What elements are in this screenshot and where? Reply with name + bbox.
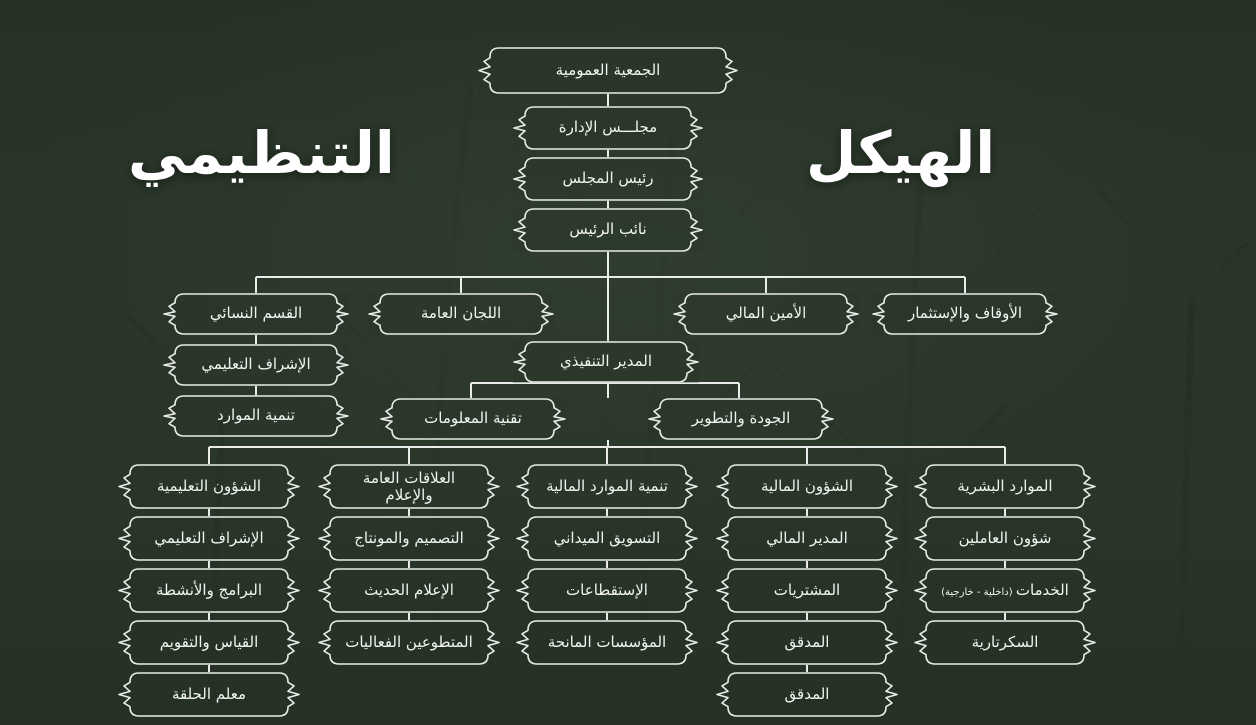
org-node-label: تنمية الموارد المالية: [546, 478, 668, 495]
org-node-label: المؤسسات المانحة: [548, 634, 666, 651]
org-node-label: الشؤون المالية: [761, 478, 853, 495]
org-node-c3r4[interactable]: المؤسسات المانحة: [516, 620, 698, 665]
org-node-c1r2[interactable]: الإشراف التعليمي: [118, 516, 300, 561]
org-node-c5r1[interactable]: الموارد البشرية: [914, 464, 1096, 509]
org-node-label: التسويق الميداني: [554, 530, 661, 547]
org-node-c2r2[interactable]: التصميم والمونتاج: [318, 516, 500, 561]
org-node-label: السكرتارية: [972, 634, 1039, 651]
org-node-n4[interactable]: نائب الرئيس: [513, 208, 703, 252]
org-node-c1r5[interactable]: معلم الحلقة: [118, 672, 300, 717]
org-node-n1[interactable]: الجمعية العمومية: [478, 47, 738, 94]
org-node-c1r3[interactable]: البرامج والأنشطة: [118, 568, 300, 613]
org-node-label: معلم الحلقة: [172, 686, 246, 703]
org-node-c5r4[interactable]: السكرتارية: [914, 620, 1096, 665]
org-node-c4r1[interactable]: الشؤون المالية: [716, 464, 898, 509]
org-node-n6[interactable]: اللجان العامة: [368, 293, 554, 335]
org-node-label: القسم النسائي: [210, 305, 302, 322]
org-node-c3r3[interactable]: الإستقطاعات: [516, 568, 698, 613]
org-node-label: القياس والتقويم: [160, 634, 259, 651]
org-node-label: العلاقات العامة والإعلام: [340, 470, 478, 503]
org-node-label: مجلـــس الإدارة: [559, 119, 657, 136]
org-node-c2r3[interactable]: الإعلام الحديث: [318, 568, 500, 613]
org-node-n7[interactable]: الأمين المالي: [673, 293, 859, 335]
org-node-label: الإستقطاعات: [566, 582, 648, 599]
org-node-c2r4[interactable]: المتطوعين الفعاليات: [318, 620, 500, 665]
org-node-label: المشتريات: [774, 582, 840, 599]
org-node-sublabel: (داخلية - خارجية): [941, 587, 1016, 598]
org-node-c5r2[interactable]: شؤون العاملين: [914, 516, 1096, 561]
org-node-c4r2[interactable]: المدير المالي: [716, 516, 898, 561]
org-node-label: شؤون العاملين: [959, 530, 1052, 547]
org-node-label: تنمية الموارد: [217, 407, 295, 424]
org-node-label: اللجان العامة: [421, 305, 501, 322]
org-node-c4r4[interactable]: المدقق: [716, 620, 898, 665]
org-node-label: الموارد البشرية: [957, 478, 1052, 495]
org-node-n8[interactable]: الأوقاف والإستثمار: [872, 293, 1058, 335]
org-node-c5r3[interactable]: الخدمات (داخلية - خارجية): [914, 568, 1096, 613]
page-title-right: الهيكل: [806, 124, 995, 182]
org-node-label: الخدمات (داخلية - خارجية): [941, 582, 1069, 599]
org-node-label: الإعلام الحديث: [364, 582, 454, 599]
org-node-c1r4[interactable]: القياس والتقويم: [118, 620, 300, 665]
org-node-n13[interactable]: الجودة والتطوير: [648, 398, 834, 440]
org-node-label: المدير المالي: [766, 530, 848, 547]
org-node-label: تقنية المعلومات: [424, 410, 522, 427]
org-node-label: الأمين المالي: [726, 305, 807, 322]
org-node-c1r1[interactable]: الشؤون التعليمية: [118, 464, 300, 509]
org-node-label: الشؤون التعليمية: [157, 478, 261, 495]
org-node-label: التصميم والمونتاج: [354, 530, 464, 547]
org-node-label: الأوقاف والإستثمار: [908, 305, 1022, 322]
org-node-c4r5[interactable]: المدقق: [716, 672, 898, 717]
org-node-n3[interactable]: رئيس المجلس: [513, 157, 703, 201]
org-node-n11[interactable]: المدير التنفيذي: [513, 341, 699, 383]
org-node-n2[interactable]: مجلـــس الإدارة: [513, 106, 703, 150]
page-title-left: التنظيمي: [128, 124, 395, 182]
org-node-n12[interactable]: تقنية المعلومات: [380, 398, 566, 440]
org-node-label: نائب الرئيس: [569, 221, 646, 238]
org-node-label: البرامج والأنشطة: [156, 582, 262, 599]
org-node-c2r1[interactable]: العلاقات العامة والإعلام: [318, 464, 500, 509]
org-node-label: الإشراف التعليمي: [154, 530, 263, 547]
org-node-label: المدير التنفيذي: [560, 353, 652, 370]
org-node-label: المتطوعين الفعاليات: [345, 634, 473, 651]
org-node-label: الجودة والتطوير: [692, 410, 791, 427]
org-chart-canvas: الهيكل التنظيمي: [0, 0, 1256, 725]
org-node-label: الجمعية العمومية: [556, 62, 661, 79]
org-node-label: المدقق: [785, 634, 830, 651]
org-node-n10[interactable]: تنمية الموارد: [163, 395, 349, 437]
org-node-label: المدقق: [785, 686, 830, 703]
org-node-n9[interactable]: الإشراف التعليمي: [163, 344, 349, 386]
org-node-n5[interactable]: القسم النسائي: [163, 293, 349, 335]
org-node-c3r2[interactable]: التسويق الميداني: [516, 516, 698, 561]
org-node-label: رئيس المجلس: [562, 170, 653, 187]
org-node-label: الإشراف التعليمي: [201, 356, 310, 373]
org-node-c3r1[interactable]: تنمية الموارد المالية: [516, 464, 698, 509]
org-node-c4r3[interactable]: المشتريات: [716, 568, 898, 613]
